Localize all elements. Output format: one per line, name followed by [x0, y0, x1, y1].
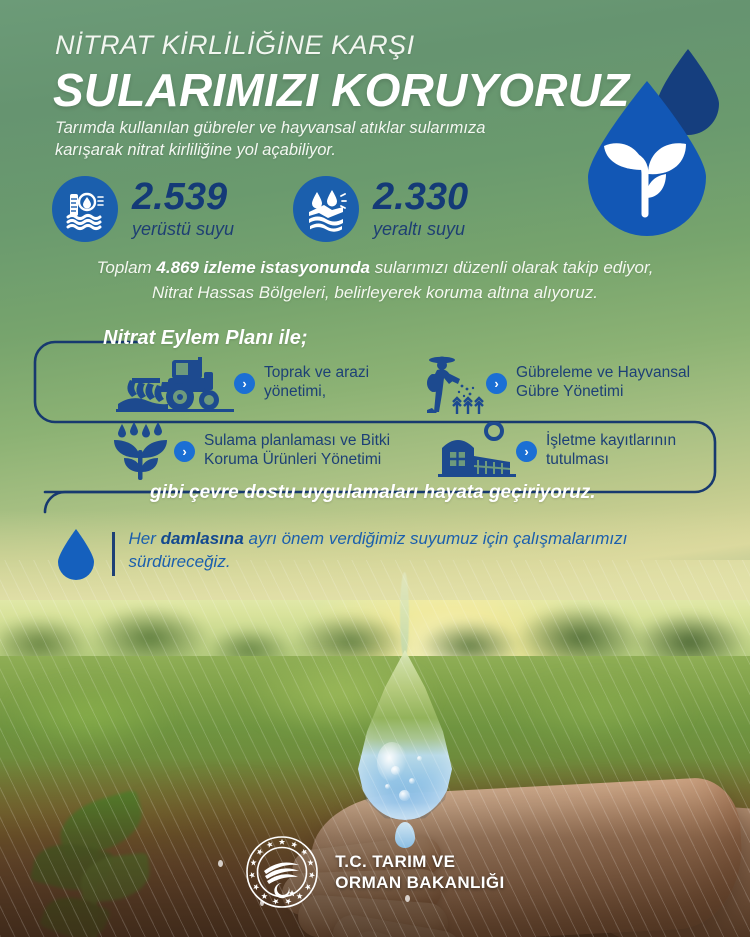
plan-item-label: Toprak ve arazi yönetimi,: [264, 364, 369, 402]
mid-line2: Nitrat Hassas Bölgeleri, belirleyerek ko…: [152, 283, 598, 302]
plan-item-irrigation-planning: › Sulama planlaması ve Bitki Koruma Ürün…: [108, 422, 390, 480]
mid-line1-bold: 4.869 izleme istasyonunda: [156, 258, 370, 277]
tractor-plow-icon: [116, 352, 234, 414]
chevron-right-icon: ›: [486, 373, 507, 394]
blue-droplet-icon: [56, 527, 96, 581]
mid-line1-suffix: sularımızı düzenli olarak takip ediyor,: [370, 258, 653, 277]
closing-bold: damlasına: [161, 529, 244, 548]
chevron-right-icon: ›: [516, 441, 537, 462]
plan-item-record-keeping: › İşletme kayıtlarının tutulması: [438, 422, 676, 480]
stat-groundwater: 2.330 yeraltı suyu: [293, 176, 468, 242]
stat-value: 2.330: [373, 178, 468, 216]
plan-item-soil-management: › Toprak ve arazi yönetimi,: [116, 352, 369, 414]
ministry-name: T.C. TARIM VE ORMAN BAKANLIĞI: [335, 851, 504, 894]
stat-label: yeraltı suyu: [373, 219, 468, 240]
plan-item-label: İşletme kayıtlarının tutulması: [546, 432, 676, 470]
closing-statement: Her damlasına ayrı önem verdiğimiz suyum…: [56, 527, 669, 581]
page-kicker: NİTRAT KİRLİLİĞİNE KARŞI: [55, 30, 415, 61]
surface-water-gauge-icon: [52, 176, 118, 242]
plan-item-fertilizer-management: › Gübreleme ve Hayvansal Gübre Yönetimi: [420, 352, 690, 414]
infographic-poster: NİTRAT KİRLİLİĞİNE KARŞI SULARIMIZI KORU…: [0, 0, 750, 937]
plan-footer-text: gibi çevre dostu uygulamaları hayata geç…: [150, 482, 596, 504]
closing-text: Her damlasına ayrı önem verdiğimiz suyum…: [129, 527, 669, 574]
groundwater-layers-icon: [293, 176, 359, 242]
ministry-footer: T.C. TARIM VE ORMAN BAKANLIĞI: [0, 835, 750, 909]
barn-farm-icon: [438, 422, 516, 480]
stat-surface-water: 2.539 yerüstü suyu: [52, 176, 234, 242]
stat-label: yerüstü suyu: [132, 219, 234, 240]
chevron-right-icon: ›: [234, 373, 255, 394]
water-plant-logo-icon: [582, 78, 712, 238]
plan-item-label: Gübreleme ve Hayvansal Gübre Yönetimi: [516, 364, 690, 402]
page-subtitle: Tarımda kullanılan gübreler ve hayvansal…: [55, 117, 555, 162]
mid-line1-prefix: Toplam: [97, 258, 157, 277]
plan-item-label: Sulama planlaması ve Bitki Koruma Ürünle…: [204, 432, 390, 470]
irrigation-plant-icon: [108, 422, 174, 480]
stat-value: 2.539: [132, 178, 234, 216]
vertical-divider: [112, 532, 115, 576]
ministry-seal-icon: [245, 835, 319, 909]
action-plan-section: Nitrat Eylem Planı ile;: [0, 330, 750, 515]
plan-title: Nitrat Eylem Planı ile;: [103, 327, 308, 350]
farmer-spreading-fertilizer-icon: [420, 352, 486, 414]
monitoring-paragraph: Toplam 4.869 izleme istasyonunda sularım…: [0, 256, 750, 305]
chevron-right-icon: ›: [174, 441, 195, 462]
closing-prefix: Her: [129, 529, 161, 548]
page-title: SULARIMIZI KORUYORUZ: [53, 63, 629, 117]
